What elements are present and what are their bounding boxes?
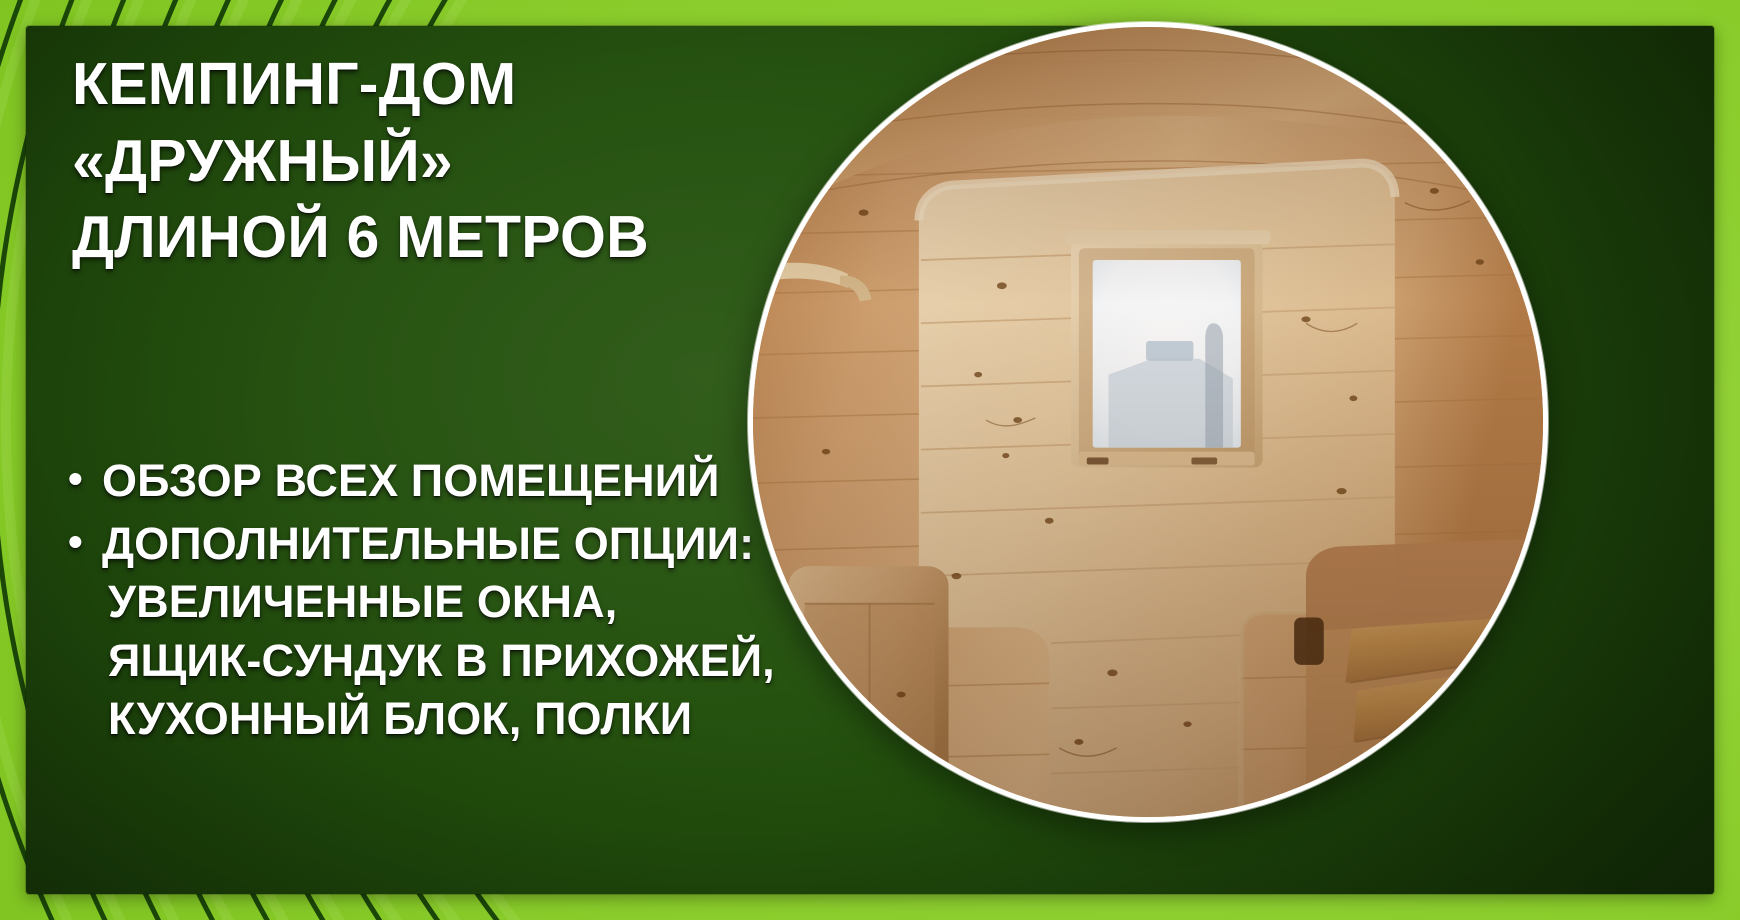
promo-banner: КЕМПИНГ-ДОМ «ДРУЖНЫЙ» ДЛИНОЙ 6 МЕТРОВ ОБ…: [0, 0, 1740, 920]
headline-block: КЕМПИНГ-ДОМ «ДРУЖНЫЙ» ДЛИНОЙ 6 МЕТРОВ: [72, 46, 892, 276]
headline-line-1: КЕМПИНГ-ДОМ: [72, 46, 892, 123]
photo-clip: [753, 27, 1543, 817]
list-item-subline: ЯЩИК-СУНДУК В ПРИХОЖЕЙ,: [102, 632, 928, 691]
headline-line-3: ДЛИНОЙ 6 МЕТРОВ: [72, 199, 892, 276]
headline-line-2: «ДРУЖНЫЙ»: [72, 123, 892, 200]
cabin-interior-photo: [748, 22, 1548, 822]
list-item-subline: КУХОННЫЙ БЛОК, ПОЛКИ: [102, 690, 928, 749]
page-title: КЕМПИНГ-ДОМ «ДРУЖНЫЙ» ДЛИНОЙ 6 МЕТРОВ: [72, 46, 892, 276]
